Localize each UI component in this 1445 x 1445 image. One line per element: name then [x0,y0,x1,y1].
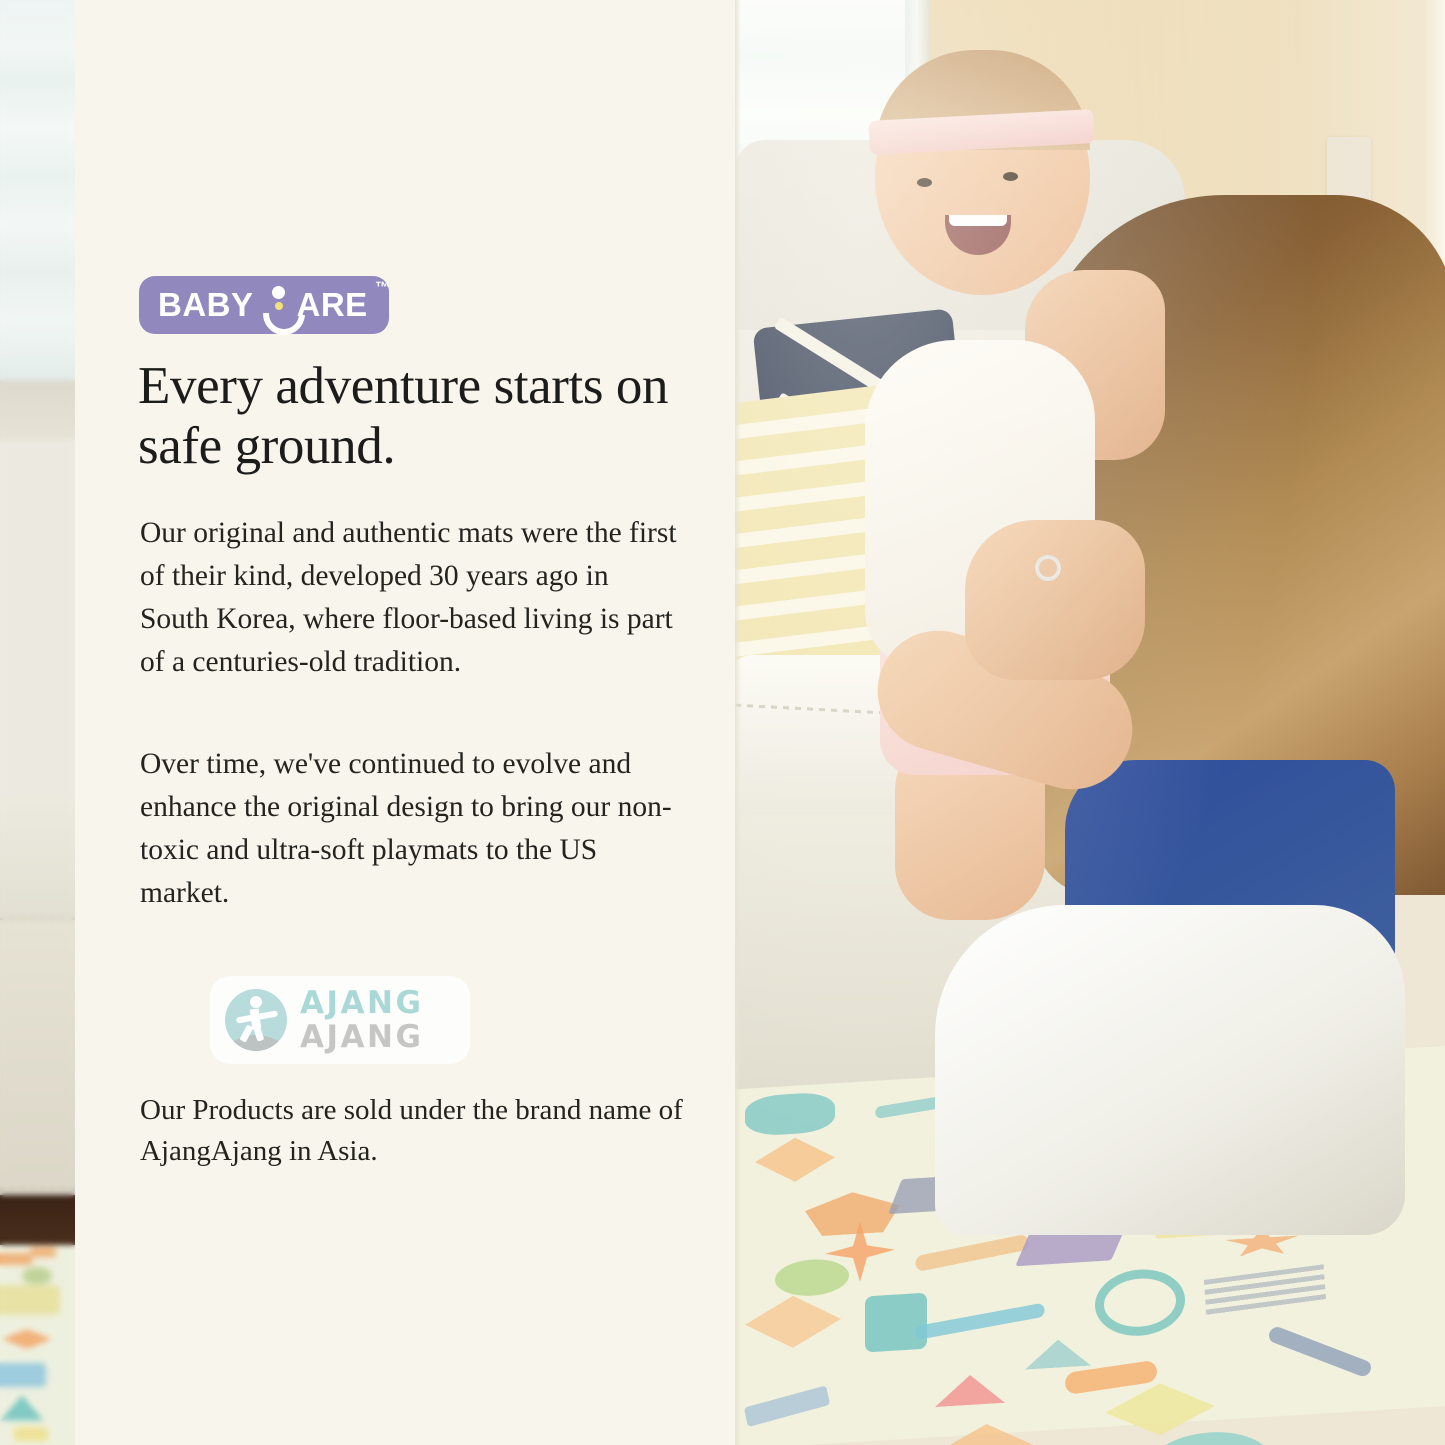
mat-shape [914,1234,1029,1272]
mat-shape [865,1293,927,1353]
baby-care-logo-text: BABY ARE [158,286,368,324]
ad-canvas: H S H BABY [0,0,1445,1445]
body-paragraph-1: Our original and authentic mats were the… [140,512,680,684]
logo-word-are: ARE [297,286,368,324]
wedding-ring [1035,555,1061,581]
mat-shape [775,1257,849,1298]
figure-head [250,996,262,1008]
mat-shape [1095,1267,1185,1339]
baby-head-c-icon [263,287,297,323]
mat-shape [755,1135,835,1184]
mat-shape [935,1373,1005,1407]
baby-teeth [949,215,1007,226]
lifestyle-photo [735,0,1445,1445]
photo-left-edge-fade [735,0,741,1445]
left-photo-strip: H S H [0,0,75,1445]
c-head-dot [272,286,285,299]
text-panel: BABY ARE ™ Every adventure starts on saf… [75,0,735,1445]
page-title: Every adventure starts on safe ground. [138,356,738,477]
mat-shape [805,1189,900,1237]
trademark-icon: ™ [375,279,390,296]
mat-shape [915,1420,1045,1445]
logo-word-baby: BABY [158,286,254,324]
mat-shape [744,1385,830,1427]
ajang-word-top: AJANG [300,988,423,1019]
c-accent-dot [275,302,283,310]
child-figure-icon [225,989,287,1051]
mother-hand [965,520,1145,680]
ajangajang-logo: AJANG AJANG [210,976,470,1064]
ajang-word-bottom: AJANG [300,1022,423,1053]
mat-shape [1267,1325,1374,1379]
mother-white-jeans [935,905,1405,1235]
left-strip-blur-overlay [0,0,75,1445]
baby-eye-left [917,178,932,187]
mat-shape [745,1293,841,1351]
baby-eye-right [1003,172,1018,181]
mat-shape [1025,1338,1091,1370]
mat-shape [1204,1264,1326,1315]
ajangajang-wordmark: AJANG AJANG [300,988,423,1053]
footnote-text: Our Products are sold under the brand na… [140,1090,700,1172]
mat-shape [915,1303,1046,1341]
mat-shape [1105,1380,1215,1439]
mat-shape [745,1091,835,1137]
baby-care-logo: BABY ARE [139,276,389,334]
body-paragraph-2: Over time, we've continued to evolve and… [140,743,680,915]
